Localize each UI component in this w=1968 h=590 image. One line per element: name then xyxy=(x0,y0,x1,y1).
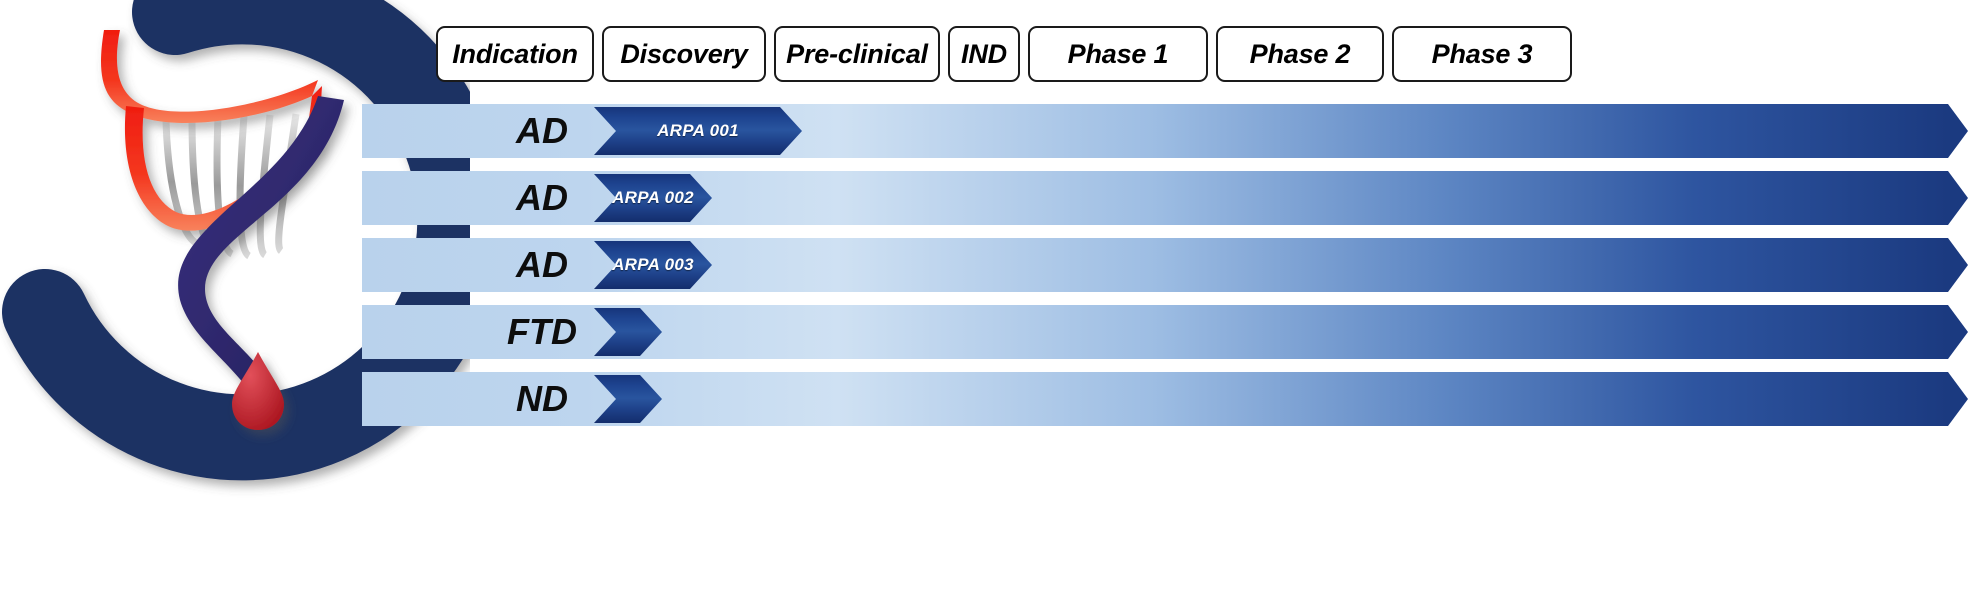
pipeline-diagram: IndicationDiscoveryPre-clinicalINDPhase … xyxy=(0,0,1968,590)
indication-label: AD xyxy=(472,104,612,158)
phase-header-ind[interactable]: IND xyxy=(948,26,1020,82)
indication-label: AD xyxy=(472,238,612,292)
phase-header-indication[interactable]: Indication xyxy=(436,26,594,82)
phase-header-row: IndicationDiscoveryPre-clinicalINDPhase … xyxy=(436,26,1580,82)
pipeline-row: FTD xyxy=(362,305,1968,359)
program-chevron[interactable]: ARPA 001 xyxy=(594,107,802,155)
indication-label: FTD xyxy=(472,305,612,359)
phase-header-phase-3[interactable]: Phase 3 xyxy=(1392,26,1572,82)
phase-header-discovery[interactable]: Discovery xyxy=(602,26,766,82)
indication-label: ND xyxy=(472,372,612,426)
logo-harp-icon xyxy=(101,30,322,231)
pipeline-row: ADARPA 001 xyxy=(362,104,1968,158)
pipeline-row: ND xyxy=(362,372,1968,426)
pipeline-row: ADARPA 003 xyxy=(362,238,1968,292)
phase-header-phase-2[interactable]: Phase 2 xyxy=(1216,26,1384,82)
phase-header-phase-1[interactable]: Phase 1 xyxy=(1028,26,1208,82)
pipeline-rows: ADARPA 001ADARPA 002ADARPA 003FTDND xyxy=(362,104,1968,439)
phase-header-pre-clinical[interactable]: Pre-clinical xyxy=(774,26,940,82)
pipeline-row: ADARPA 002 xyxy=(362,171,1968,225)
indication-label: AD xyxy=(472,171,612,225)
